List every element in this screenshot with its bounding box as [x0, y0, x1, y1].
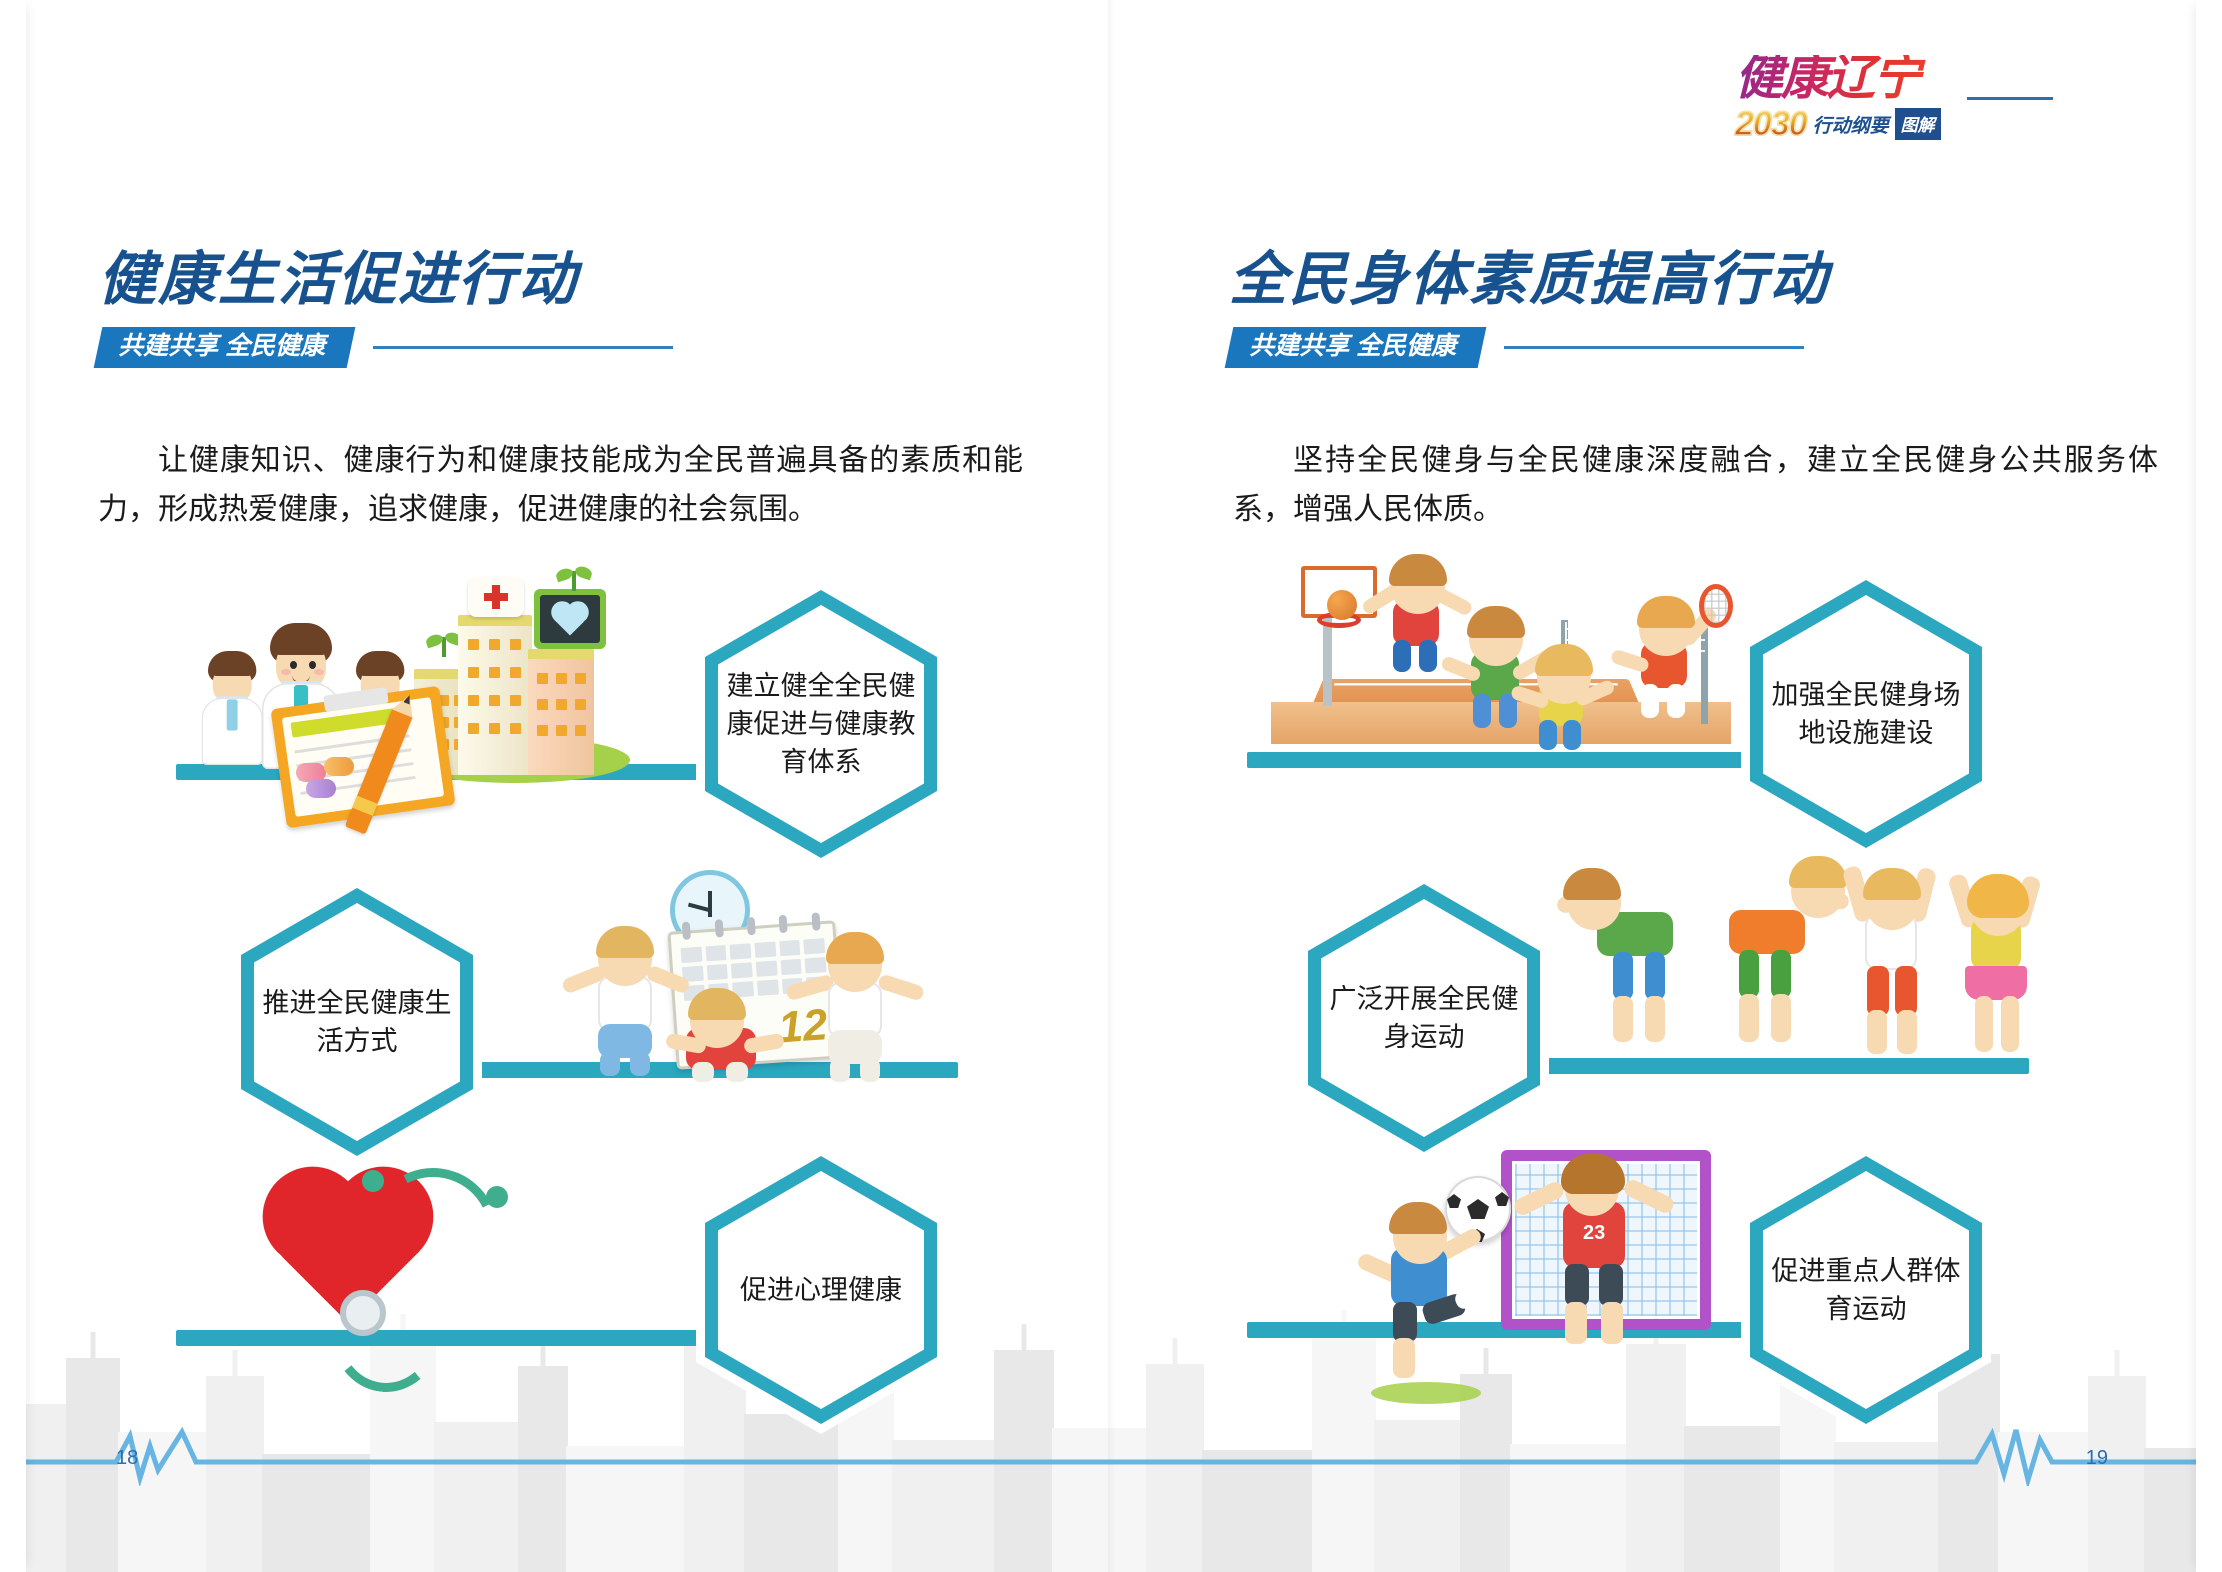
slogan-rule — [373, 346, 673, 349]
stethoscope-earpiece-left — [362, 1170, 384, 1192]
hexagon-6[interactable]: 促进重点人群体育运动 — [1741, 1146, 1991, 1434]
page-title: 健康生活促进行动 — [98, 250, 673, 311]
slogan-badge-right: 共建共享 全民健康 — [1225, 327, 1487, 368]
doctors-and-hospital-illustration — [200, 585, 620, 785]
goalkeeper-icon: 23 — [1527, 1168, 1667, 1348]
pill-icon-3 — [306, 779, 336, 798]
intro-paragraph-right: 坚持全民健身与全民健康深度融合，建立全民健身公共服务体系，增强人民体质。 — [1233, 437, 2158, 534]
kid-red-icon — [660, 1002, 790, 1082]
ekg-line-left — [26, 1426, 1116, 1486]
hexagon-5-label: 广泛开展全民健身运动 — [1329, 980, 1519, 1057]
heart-monitor-screen-icon — [534, 589, 606, 649]
kid-red-player — [1369, 564, 1469, 684]
stretching-kid-white — [1831, 878, 1961, 1056]
children-stretching-exercise-illustration — [1561, 870, 2031, 1060]
tennis-racket-icon — [1699, 584, 1733, 628]
basketball-icon — [1327, 590, 1357, 620]
page-title-right: 全民身体素质提高行动 — [1229, 250, 1829, 311]
kids-with-calendar-and-clock-illustration: 12 — [560, 880, 960, 1080]
hexagon-4-label: 加强全民健身场地设施建设 — [1771, 676, 1961, 753]
slogan-rule-right — [1504, 346, 1804, 349]
hexagon-2[interactable]: 推进全民健康生活方式 — [232, 878, 482, 1166]
sprout-icon-small — [442, 637, 446, 657]
left-header: 健康生活促进行动 共建共享 全民健康 — [98, 250, 673, 368]
page-gutter-shadow — [1108, 0, 1120, 1572]
hexagon-4[interactable]: 加强全民健身场地设施建设 — [1741, 570, 1991, 858]
left-page-column: 健康生活促进行动 共建共享 全民健康 让健康知识、健康行为和健康技能成为全民普遍… — [0, 0, 1111, 1572]
soccer-goalkeeper-illustration: 23 — [1341, 1140, 1761, 1370]
slogan-badge: 共建共享 全民健康 — [94, 327, 356, 368]
stethoscope-earpiece-right — [486, 1186, 508, 1208]
basketball-and-tennis-court-illustration — [1271, 560, 1751, 760]
hexagon-1[interactable]: 建立健全全民健康促进与健康教育体系 — [696, 580, 946, 868]
stethoscope-chestpiece — [340, 1290, 386, 1336]
logo-year: 2030 — [1735, 107, 1807, 141]
stretching-kid-pink — [1943, 884, 2063, 1056]
page-edge-left — [0, 0, 26, 1572]
stretching-kid-green — [1561, 900, 1701, 1060]
stretching-kid-orange — [1695, 892, 1845, 1060]
logo-badge: 图解 — [1895, 108, 1941, 140]
kid-kicking-icon — [1363, 1214, 1503, 1394]
hexagon-3[interactable]: 促进心理健康 — [696, 1146, 946, 1434]
pill-icon-2 — [324, 757, 354, 776]
brand-logo: 健康辽宁 2030 行动纲要 图解 — [1735, 55, 1965, 175]
logo-title: 健康辽宁 — [1735, 55, 1965, 103]
jersey-number: 23 — [1583, 1222, 1605, 1245]
infographic-page: 健康辽宁 2030 行动纲要 图解 健康生活促进行动 共建共享 全民健康 让健康… — [0, 0, 2222, 1572]
page-number-left: 18 — [116, 1447, 138, 1470]
hexagon-2-label: 推进全民健康生活方式 — [262, 984, 452, 1061]
slogan-text: 共建共享 全民健康 — [118, 334, 325, 359]
hexagon-5[interactable]: 广泛开展全民健身运动 — [1299, 874, 1549, 1162]
page-edge-right — [2196, 0, 2222, 1572]
heart-with-stethoscope-illustration — [290, 1168, 590, 1388]
logo-subtitle: 行动纲要 — [1813, 111, 1889, 138]
page-number-right: 19 — [2086, 1447, 2108, 1470]
slogan-text-right: 共建共享 全民健康 — [1249, 334, 1456, 359]
kid-blue-player — [1517, 652, 1617, 762]
right-page-column: 全民身体素质提高行动 共建共享 全民健康 坚持全民健身与全民健康深度融合，建立全… — [1111, 0, 2222, 1572]
hexagon-6-label: 促进重点人群体育运动 — [1771, 1252, 1961, 1329]
ekg-line-right — [1116, 1426, 2196, 1486]
logo-rule — [1967, 97, 2053, 100]
hexagon-1-label: 建立健全全民健康促进与健康教育体系 — [726, 667, 916, 782]
kid-tennis-player — [1615, 602, 1725, 732]
hexagon-3-label: 促进心理健康 — [726, 1271, 916, 1309]
sprout-icon-large — [572, 571, 576, 591]
intro-paragraph: 让健康知识、健康行为和健康技能成为全民普遍具备的素质和能力，形成热爱健康，追求健… — [98, 437, 1023, 534]
kid-orange-icon — [796, 938, 916, 1078]
right-header: 全民身体素质提高行动 共建共享 全民健康 — [1229, 250, 1829, 368]
medical-cross-sign-icon — [468, 577, 524, 617]
